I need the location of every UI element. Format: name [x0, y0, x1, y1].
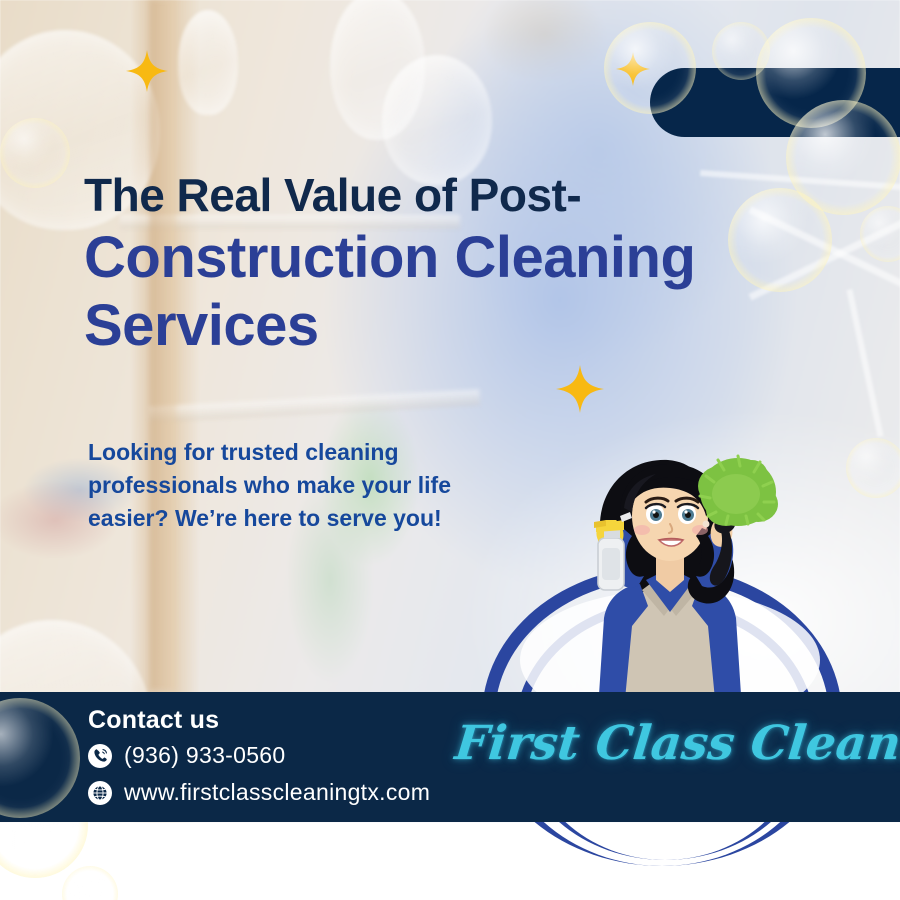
headline-line-3: Services — [84, 292, 784, 360]
website-url: www.firstclasscleaningtx.com — [124, 779, 430, 806]
headline-line-1: The Real Value of Post- — [84, 168, 784, 222]
globe-icon — [88, 781, 112, 805]
soap-bubble-icon — [62, 866, 118, 900]
glassware-silhouette — [382, 55, 492, 185]
glassware-silhouette — [178, 10, 238, 115]
contact-heading: Contact us — [88, 706, 219, 735]
subtitle: Looking for trusted cleaning professiona… — [88, 436, 508, 535]
phone-number: (936) 933-0560 — [124, 742, 285, 769]
subtitle-line-3: easier? We’re here to serve you! — [88, 502, 508, 535]
contact-phone-row[interactable]: (936) 933-0560 — [88, 742, 285, 769]
subtitle-line-1: Looking for trusted cleaning — [88, 436, 508, 469]
sparkle-star-icon — [556, 365, 604, 413]
phone-icon — [88, 744, 112, 768]
poster-canvas: The Real Value of Post- Construction Cle… — [0, 0, 900, 900]
page-title: The Real Value of Post- Construction Cle… — [84, 168, 784, 360]
subtitle-line-2: professionals who make your life — [88, 469, 508, 502]
soap-bubble-icon — [728, 188, 832, 292]
headline-line-2: Construction Cleaning — [84, 224, 784, 292]
sparkle-star-icon — [126, 50, 168, 92]
logo-wordmark: First Class Cleaning Service — [451, 712, 878, 782]
soap-bubble-icon — [604, 22, 696, 114]
soap-bubble-icon — [0, 118, 70, 188]
contact-website-row[interactable]: www.firstclasscleaningtx.com — [88, 779, 430, 806]
cleaning-lady-mascot — [520, 420, 820, 710]
soap-bubble-icon — [846, 438, 900, 498]
